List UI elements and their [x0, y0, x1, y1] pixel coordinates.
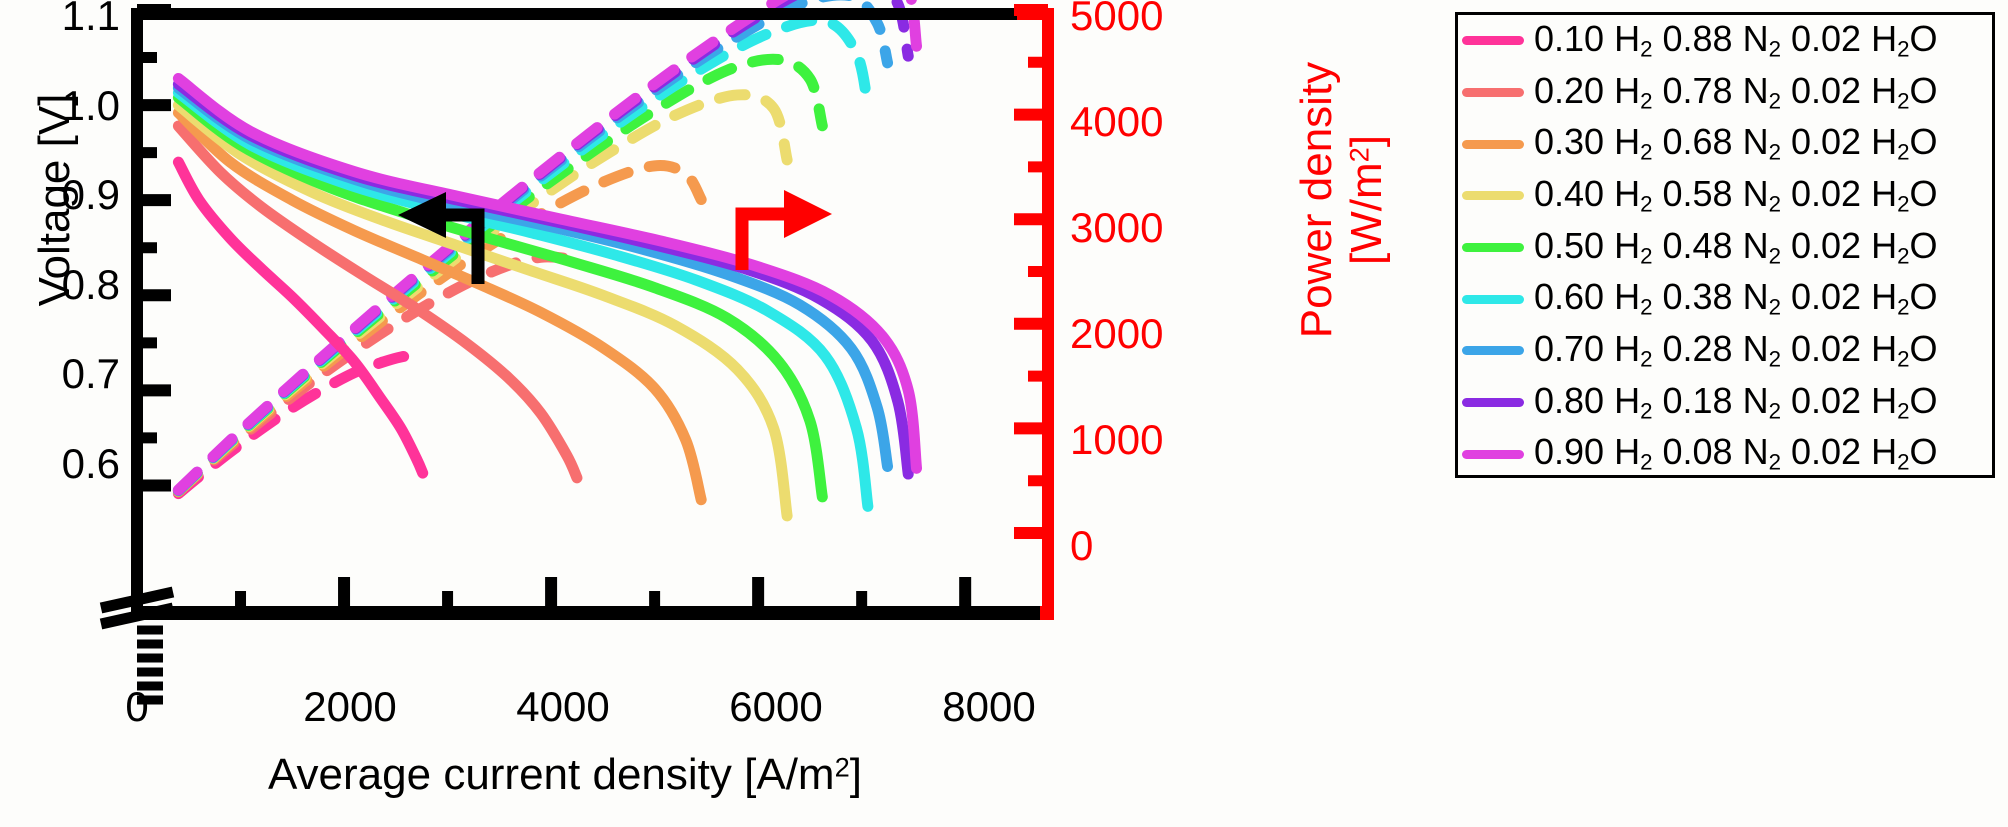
legend-item-label: 0.10 H2 0.88 N2 0.02 H2O: [1534, 21, 1938, 61]
legend-item[interactable]: 0.30 H2 0.68 N2 0.02 H2O: [1458, 118, 1992, 170]
legend-item-label: 0.80 H2 0.18 N2 0.02 H2O: [1534, 383, 1938, 423]
x-axis-title: Average current density [A/m2]: [150, 750, 980, 800]
legend-item-label: 0.60 H2 0.38 N2 0.02 H2O: [1534, 279, 1938, 319]
x-tick-0: 0: [37, 683, 237, 731]
y-tick-right-1: 4000: [1070, 98, 1230, 146]
legend-item-label: 0.20 H2 0.78 N2 0.02 H2O: [1534, 73, 1938, 113]
legend-color-swatch: [1462, 398, 1524, 407]
legend-color-swatch: [1462, 243, 1524, 252]
legend-item[interactable]: 0.10 H2 0.88 N2 0.02 H2O: [1458, 15, 1992, 67]
y-tick-right-5: 0: [1070, 522, 1230, 570]
y-tick-left-3: 0.8: [0, 261, 120, 309]
y-tick-left-1: 1.0: [0, 82, 120, 130]
legend-color-swatch: [1462, 140, 1524, 149]
chart-figure: Voltage [V] Power density [W/m2] Average…: [0, 0, 2008, 827]
x-tick-1: 2000: [250, 683, 450, 731]
legend-color-swatch: [1462, 450, 1524, 459]
legend-item[interactable]: 0.40 H2 0.58 N2 0.02 H2O: [1458, 170, 1992, 222]
y-tick-right-0: 5000: [1070, 0, 1230, 40]
y-tick-right-3: 2000: [1070, 310, 1230, 358]
power-curve-5: [178, 20, 867, 490]
legend-item-label: 0.30 H2 0.68 N2 0.02 H2O: [1534, 124, 1938, 164]
legend-color-swatch: [1462, 88, 1524, 97]
y-tick-right-4: 1000: [1070, 416, 1230, 464]
y-tick-left-4: 0.7: [0, 350, 120, 398]
x-tick-2: 4000: [463, 683, 663, 731]
y-tick-left-0: 1.1: [0, 0, 120, 40]
legend-color-swatch: [1462, 346, 1524, 355]
right-arrow-annotation: [742, 190, 832, 270]
legend-item-label: 0.70 H2 0.28 N2 0.02 H2O: [1534, 331, 1938, 371]
legend: 0.10 H2 0.88 N2 0.02 H2O0.20 H2 0.78 N2 …: [1455, 12, 1995, 478]
x-tick-4: 8000: [889, 683, 1089, 731]
legend-item[interactable]: 0.90 H2 0.08 N2 0.02 H2O: [1458, 429, 1992, 481]
legend-item[interactable]: 0.60 H2 0.38 N2 0.02 H2O: [1458, 273, 1992, 325]
axes-layer: [101, 10, 1054, 700]
legend-color-swatch: [1462, 36, 1524, 45]
y-tick-right-2: 3000: [1070, 204, 1230, 252]
legend-color-swatch: [1462, 191, 1524, 200]
y-axis-right-title: Power density [W/m2]: [1292, 10, 1392, 390]
y-tick-left-5: 0.6: [0, 440, 120, 488]
legend-color-swatch: [1462, 295, 1524, 304]
legend-item[interactable]: 0.70 H2 0.28 N2 0.02 H2O: [1458, 325, 1992, 377]
power-curve-1: [178, 257, 577, 492]
legend-item-label: 0.50 H2 0.48 N2 0.02 H2O: [1534, 228, 1938, 268]
legend-item[interactable]: 0.50 H2 0.48 N2 0.02 H2O: [1458, 222, 1992, 274]
legend-item-label: 0.90 H2 0.08 N2 0.02 H2O: [1534, 434, 1938, 474]
y-tick-left-2: 0.9: [0, 171, 120, 219]
x-tick-3: 6000: [676, 683, 876, 731]
legend-item[interactable]: 0.80 H2 0.18 N2 0.02 H2O: [1458, 377, 1992, 429]
legend-item-label: 0.40 H2 0.58 N2 0.02 H2O: [1534, 176, 1938, 216]
curves-layer: [178, 0, 916, 516]
legend-item[interactable]: 0.20 H2 0.78 N2 0.02 H2O: [1458, 67, 1992, 119]
